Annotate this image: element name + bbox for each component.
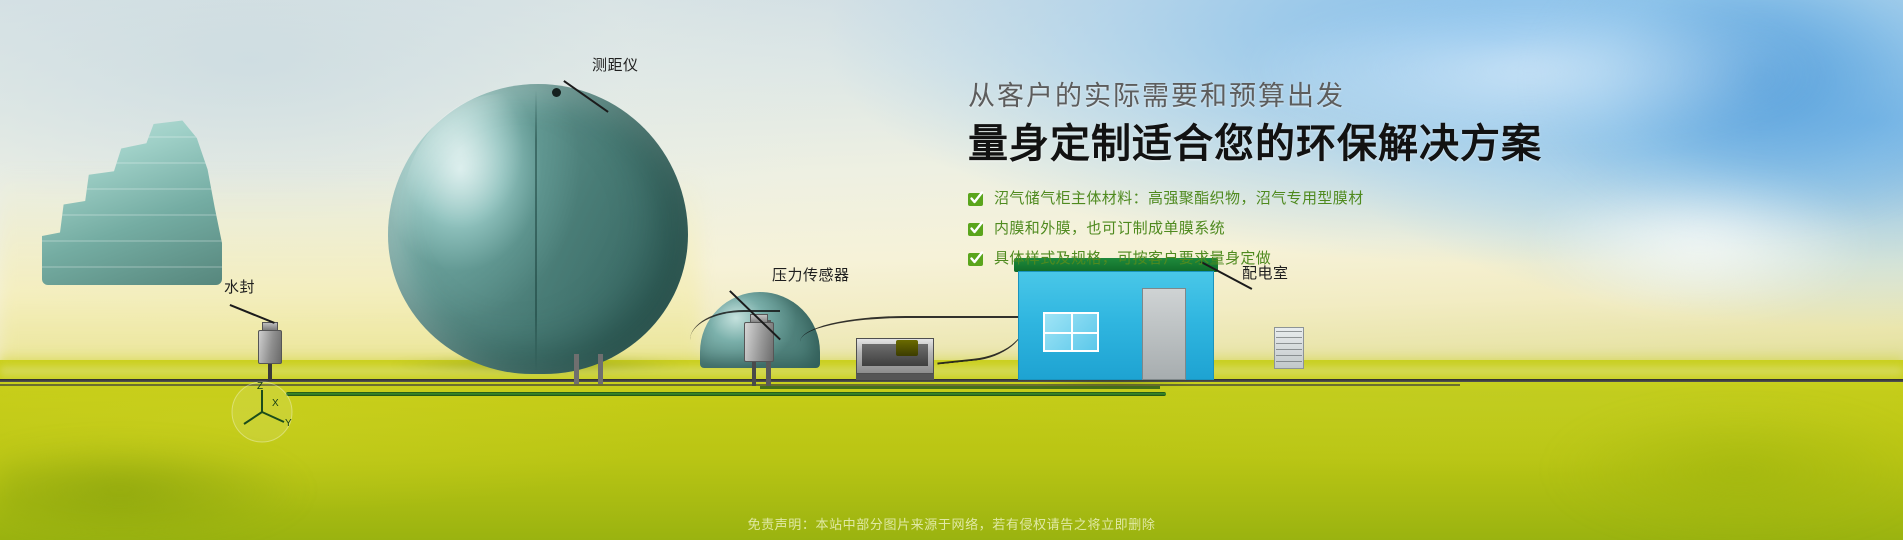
control-house-window <box>1043 312 1099 352</box>
check-icon <box>968 220 985 237</box>
callout-rangefinder-label: 测距仪 <box>592 58 639 73</box>
copy-headline: 量身定制适合您的环保解决方案 <box>968 120 1668 168</box>
pipe-riser-dome-right <box>598 354 603 384</box>
pipe-riser-dome-left <box>574 354 579 384</box>
svg-text:Z: Z <box>257 381 263 392</box>
axis-gizmo-icon: Z Y X <box>228 378 298 444</box>
list-item: 具体样式及规格，可按客户要求量身定做 <box>968 250 1668 268</box>
feature-bullet-text: 沼气储气柜主体材料：高强聚酯织物，沼气专用型膜材 <box>994 190 1364 208</box>
callout-water-seal-label: 水封 <box>224 280 255 295</box>
hero-banner: 测距仪 水封 压力传感器 配电室 Z Y X 从客户的实际需要和预算出发 量身定… <box>0 0 1903 540</box>
callout-pressure-sensor: 压力传感器 <box>772 268 850 283</box>
main-pipeline-secondary <box>0 384 1460 386</box>
callout-pressure-sensor-label: 压力传感器 <box>772 268 850 283</box>
gas-pipeline-green <box>286 392 1166 396</box>
rangefinder-sensor-icon <box>552 88 561 97</box>
biogas-dome-tank <box>388 84 688 374</box>
list-item: 内膜和外膜，也可订制成单膜系统 <box>968 220 1668 238</box>
svg-text:Y: Y <box>285 418 292 429</box>
feature-bullet-list: 沼气储气柜主体材料：高强聚酯织物，沼气专用型膜材 内膜和外膜，也可订制成单膜系统 <box>968 190 1668 268</box>
callout-rangefinder: 测距仪 <box>592 58 639 73</box>
dome-highlight <box>402 94 602 334</box>
disclaimer-text: 免责声明：本站中部分图片来源于网络，若有侵权请告之将立即删除 <box>0 514 1903 533</box>
dome-seam <box>535 90 537 372</box>
check-icon <box>968 250 985 267</box>
svg-text:X: X <box>272 398 279 409</box>
feature-bullet-text: 内膜和外膜，也可订制成单膜系统 <box>994 220 1225 238</box>
axis-gizmo: Z Y X <box>228 378 298 444</box>
list-item: 沼气储气柜主体材料：高强聚酯织物，沼气专用型膜材 <box>968 190 1668 208</box>
water-seal-cap <box>262 322 278 331</box>
callout-water-seal: 水封 <box>224 280 255 295</box>
control-house-panel-door <box>1142 288 1186 380</box>
feature-bullet-text: 具体样式及规格，可按客户要求量身定做 <box>994 250 1271 268</box>
copy-subtitle: 从客户的实际需要和预算出发 <box>968 80 1668 114</box>
blower-skid-base <box>856 374 934 380</box>
water-seal-unit <box>258 330 282 364</box>
check-icon <box>968 190 985 207</box>
control-panel-vents <box>1276 331 1302 365</box>
marketing-copy: 从客户的实际需要和预算出发 量身定制适合您的环保解决方案 沼气储气柜主体材料：高… <box>968 80 1668 280</box>
